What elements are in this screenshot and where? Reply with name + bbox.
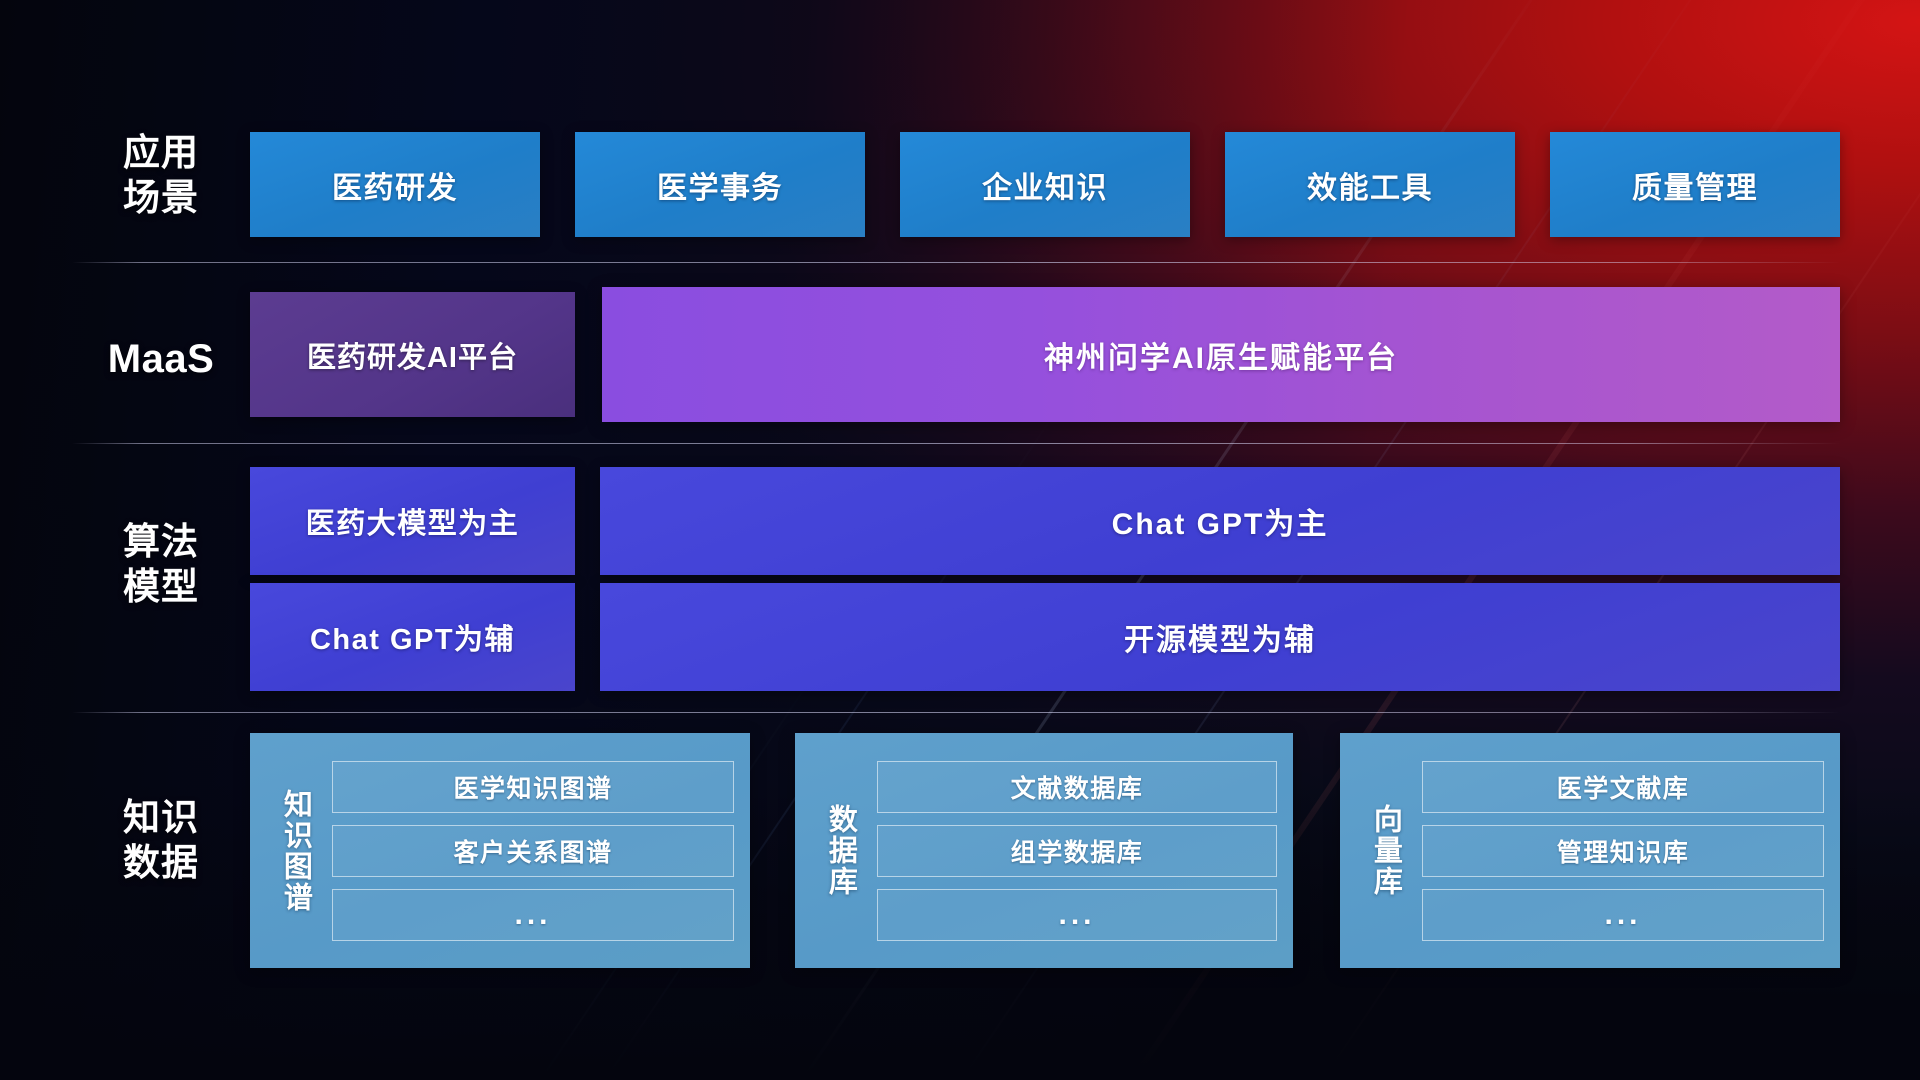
knowledge-item[interactable]: 组学数据库 [877,825,1277,877]
knowledge-item[interactable]: 医学文献库 [1422,761,1824,813]
app-scenario-label: 企业知识 [982,163,1108,207]
row-label-line: 场景 [76,175,246,220]
algo-box-pharma-llm-primary[interactable]: 医药大模型为主 [250,467,575,575]
algo-box-chatgpt-primary[interactable]: Chat GPT为主 [600,467,1840,575]
algo-label: Chat GPT为主 [1112,499,1329,543]
row-label-maas: MaaS [76,335,246,384]
row-label-line: 数据 [76,840,246,885]
app-scenario-label: 效能工具 [1307,163,1433,207]
knowledge-panel-vector-store[interactable]: 向量库 医学文献库 管理知识库 ... [1340,733,1840,968]
row-label-line: 算法 [76,519,246,564]
knowledge-item[interactable]: 管理知识库 [1422,825,1824,877]
tier-divider-1 [72,262,1840,263]
app-scenario-label: 质量管理 [1632,163,1758,207]
knowledge-item[interactable]: 文献数据库 [877,761,1277,813]
row-label-line: MaaS [76,335,246,384]
row-label-application-scenarios: 应用 场景 [76,130,246,220]
app-scenario-box-medicine-rd[interactable]: 医药研发 [250,132,540,237]
row-label-line: 知识 [76,795,246,840]
knowledge-item-more[interactable]: ... [1422,889,1824,941]
app-scenario-box-quality-management[interactable]: 质量管理 [1550,132,1840,237]
maas-box-pharma-ai-platform[interactable]: 医药研发AI平台 [250,292,575,417]
maas-label: 神州问学AI原生赋能平台 [1044,333,1398,377]
app-scenario-box-efficiency-tools[interactable]: 效能工具 [1225,132,1515,237]
row-label-algorithm-models: 算法 模型 [76,519,246,609]
knowledge-item-list: 医学文献库 管理知识库 ... [1422,761,1824,941]
algo-label: 开源模型为辅 [1124,615,1316,659]
algo-box-chatgpt-secondary[interactable]: Chat GPT为辅 [250,583,575,691]
knowledge-panel-knowledge-graph[interactable]: 知识图谱 医学知识图谱 客户关系图谱 ... [250,733,750,968]
knowledge-item-more[interactable]: ... [877,889,1277,941]
tier-divider-2 [72,443,1840,444]
knowledge-item-list: 文献数据库 组学数据库 ... [877,761,1277,941]
maas-box-shenzhou-wenxue-platform[interactable]: 神州问学AI原生赋能平台 [602,287,1840,422]
app-scenario-label: 医药研发 [332,163,458,207]
knowledge-item[interactable]: 客户关系图谱 [332,825,734,877]
knowledge-panel-title: 知识图谱 [264,789,326,913]
knowledge-panel-database[interactable]: 数据库 文献数据库 组学数据库 ... [795,733,1293,968]
row-label-knowledge-data: 知识 数据 [76,795,246,885]
algo-box-opensource-secondary[interactable]: 开源模型为辅 [600,583,1840,691]
architecture-diagram: 应用 场景 医药研发 医学事务 企业知识 效能工具 质量管理 MaaS 医药研发… [0,0,1920,1080]
row-label-line: 应用 [76,130,246,175]
algo-label: 医药大模型为主 [306,500,520,542]
algo-label: Chat GPT为辅 [310,616,515,658]
knowledge-item[interactable]: 医学知识图谱 [332,761,734,813]
app-scenario-box-enterprise-knowledge[interactable]: 企业知识 [900,132,1190,237]
app-scenario-label: 医学事务 [657,163,783,207]
app-scenario-box-medical-affairs[interactable]: 医学事务 [575,132,865,237]
knowledge-panel-title: 数据库 [809,804,871,897]
row-label-line: 模型 [76,564,246,609]
knowledge-item-list: 医学知识图谱 客户关系图谱 ... [332,761,734,941]
tier-divider-3 [72,712,1840,713]
knowledge-panel-title: 向量库 [1354,804,1416,897]
knowledge-item-more[interactable]: ... [332,889,734,941]
maas-label: 医药研发AI平台 [307,334,518,376]
